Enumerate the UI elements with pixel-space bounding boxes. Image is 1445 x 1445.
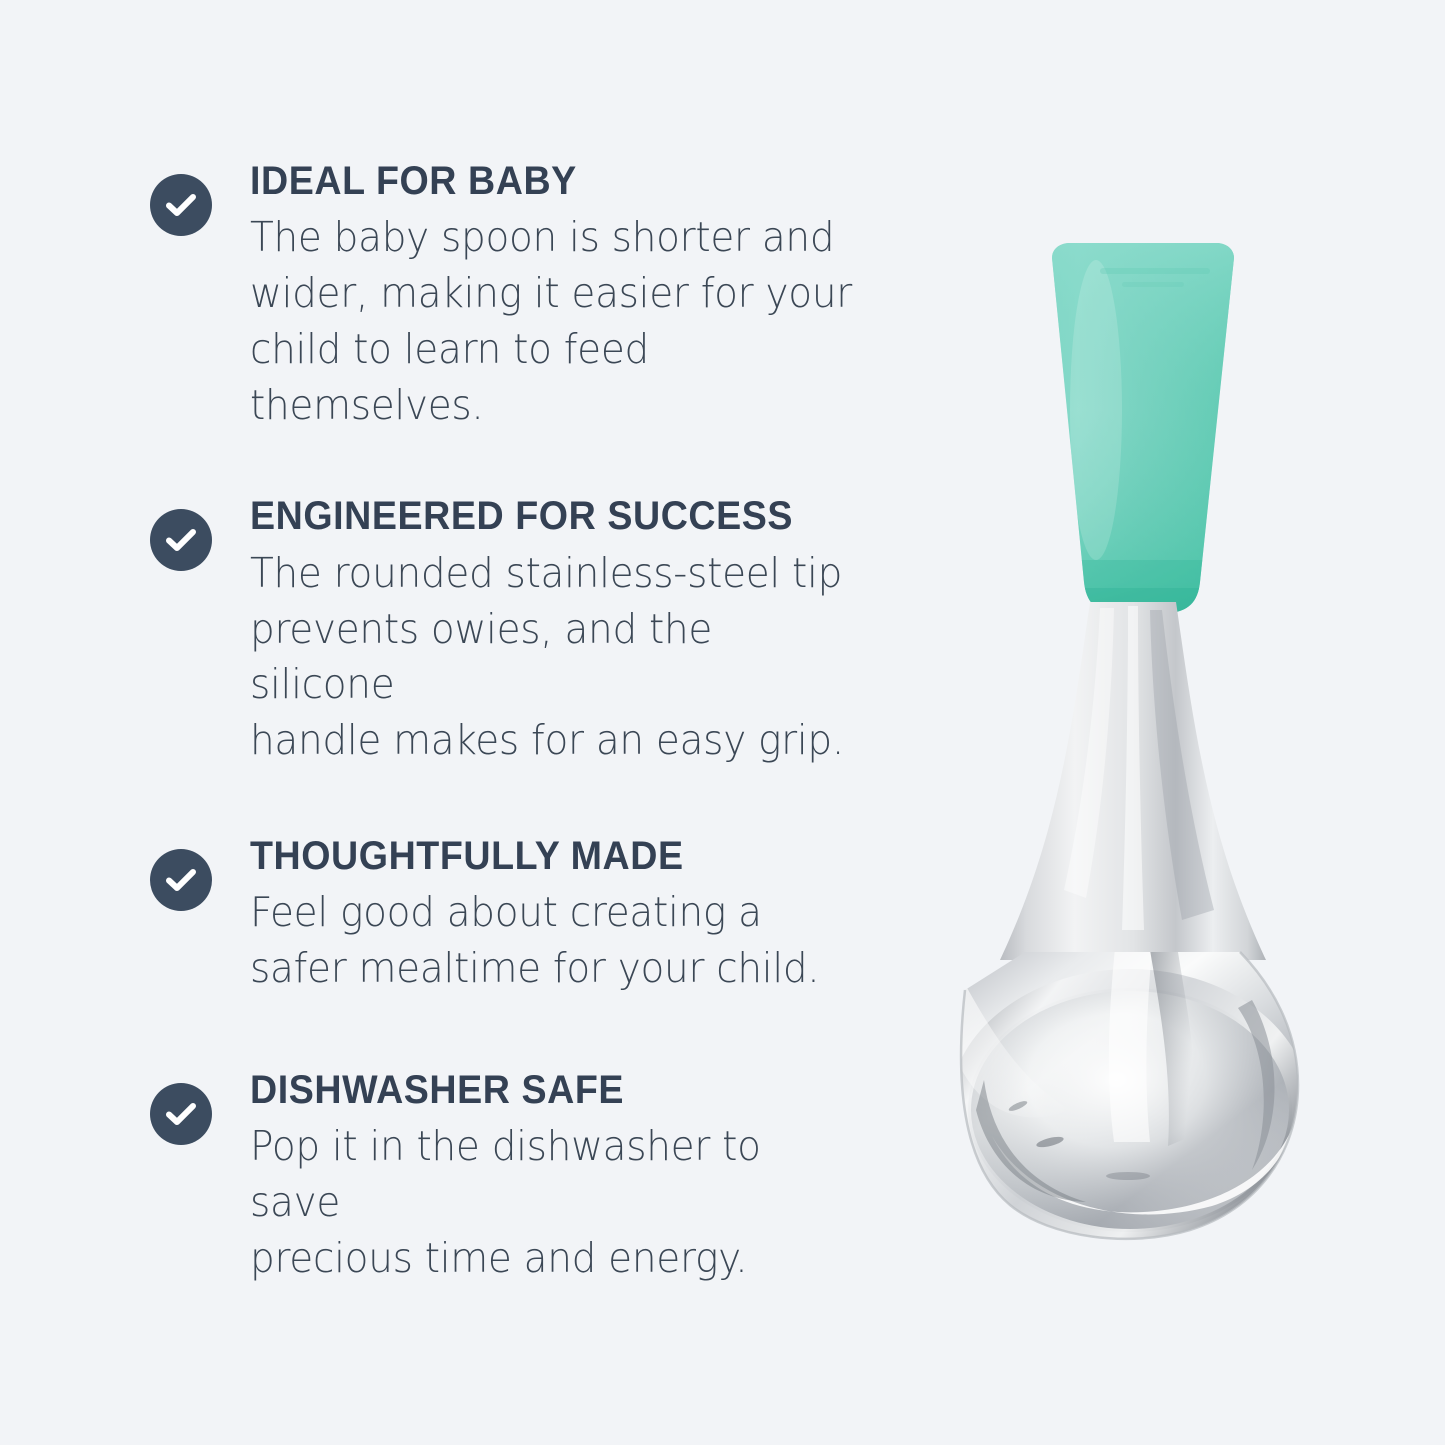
feature-item: IDEAL FOR BABY The baby spoon is shorter… — [150, 160, 890, 433]
feature-description-line: child to learn to feed themselves. — [250, 322, 858, 434]
feature-description-line: handle makes for an easy grip. — [250, 713, 858, 769]
feature-description-line: Feel good about creating a — [250, 885, 858, 941]
product-image — [900, 230, 1360, 1270]
product-feature-infographic: IDEAL FOR BABY The baby spoon is shorter… — [0, 0, 1445, 1445]
check-circle-icon — [150, 509, 212, 571]
feature-description-line: Pop it in the dishwasher to save — [250, 1119, 858, 1231]
feature-title: ENGINEERED FOR SUCCESS — [250, 495, 852, 537]
feature-description: The rounded stainless-steel tip prevents… — [250, 546, 858, 769]
feature-item: ENGINEERED FOR SUCCESS The rounded stain… — [150, 495, 890, 768]
feature-item: DISHWASHER SAFE Pop it in the dishwasher… — [150, 1069, 890, 1287]
spoon-bowl — [958, 948, 1300, 1240]
check-circle-icon — [150, 1083, 212, 1145]
feature-description-line: safer mealtime for your child. — [250, 941, 858, 997]
feature-title: IDEAL FOR BABY — [250, 160, 852, 202]
feature-description: Pop it in the dishwasher to save preciou… — [250, 1119, 858, 1286]
feature-list: IDEAL FOR BABY The baby spoon is shorter… — [150, 160, 890, 1286]
check-circle-icon — [150, 174, 212, 236]
feature-description-line: precious time and energy. — [250, 1231, 858, 1287]
feature-description-line: prevents owies, and the silicone — [250, 602, 858, 714]
baby-spoon-illustration — [900, 230, 1360, 1270]
feature-item: THOUGHTFULLY MADE Feel good about creati… — [150, 835, 890, 997]
feature-title: DISHWASHER SAFE — [250, 1069, 852, 1111]
feature-description-line: The rounded stainless-steel tip — [250, 546, 858, 602]
feature-description-line: The baby spoon is shorter and — [250, 210, 858, 266]
spoon-steel-neck — [1000, 602, 1266, 960]
feature-description-line: wider, making it easier for your — [250, 266, 858, 322]
check-circle-icon — [150, 849, 212, 911]
spoon-silicone-handle — [1040, 230, 1250, 630]
feature-title: THOUGHTFULLY MADE — [250, 835, 852, 877]
feature-description: Feel good about creating a safer mealtim… — [250, 885, 858, 997]
feature-description: The baby spoon is shorter and wider, mak… — [250, 210, 858, 433]
